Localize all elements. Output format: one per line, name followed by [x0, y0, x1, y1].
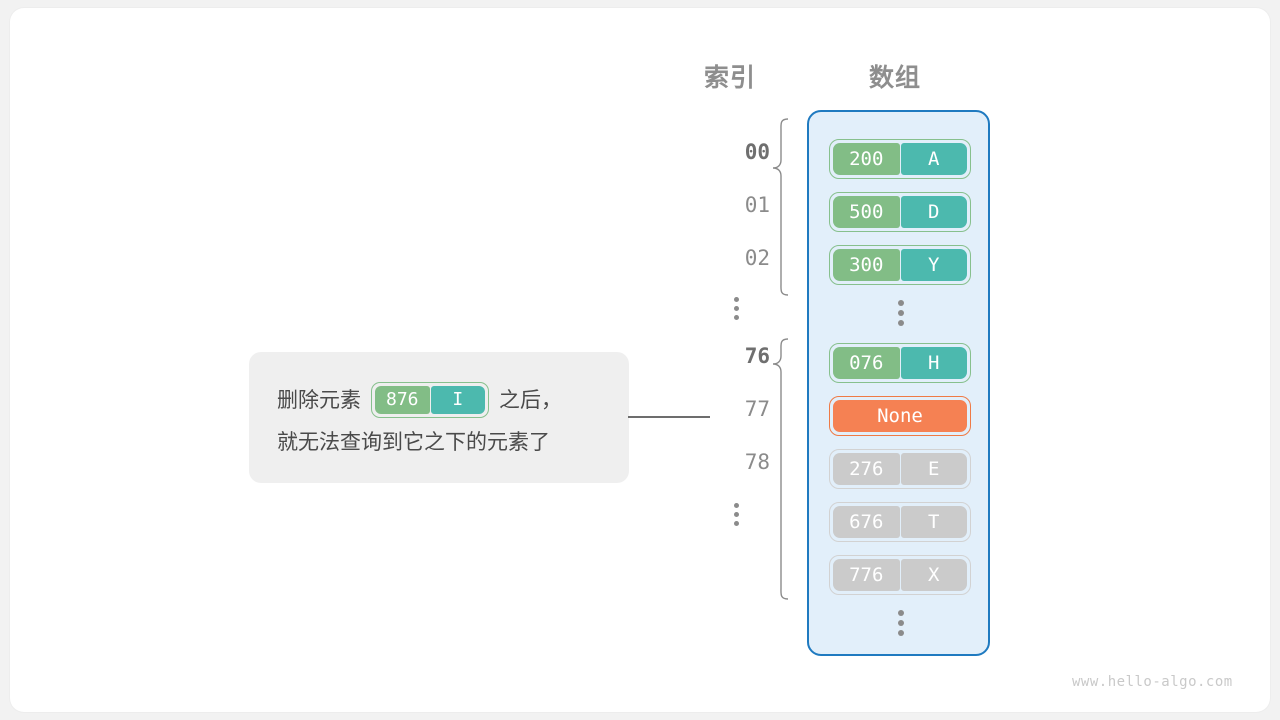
index-column: 000102767778 [660, 100, 770, 660]
pair-key: 676 [833, 506, 900, 538]
index-label-78: 78 [660, 450, 770, 474]
watermark: www.hello-algo.com [1072, 674, 1233, 690]
index-ellipsis-2 [660, 503, 770, 526]
callout-pair-key: 876 [375, 386, 430, 414]
index-brace-1 [764, 118, 790, 296]
callout-inline-pair: 876 I [371, 382, 489, 418]
array-ellipsis [809, 610, 992, 636]
pair-value: E [901, 453, 968, 485]
none-label: None [833, 400, 967, 432]
callout-box: 删除元素 876 I 之后， 就无法查询到它之下的元素了 [249, 352, 629, 483]
index-ellipsis-1 [660, 297, 770, 320]
pair-key: 276 [833, 453, 900, 485]
index-label-00: 00 [660, 140, 770, 164]
array-pair-676: 676T [829, 502, 971, 542]
index-column-header: 索引 [704, 58, 756, 94]
pair-value: X [901, 559, 968, 591]
pair-key: 776 [833, 559, 900, 591]
pair-value: T [901, 506, 968, 538]
callout-text-after: 之后， [499, 390, 562, 411]
array-pair-200: 200A [829, 139, 971, 179]
array-column-header: 数组 [869, 58, 921, 94]
index-label-02: 02 [660, 246, 770, 270]
index-label-01: 01 [660, 193, 770, 217]
array-rows: 200A500D300Y076HNone276E676T776X [809, 112, 988, 654]
index-label-76: 76 [660, 344, 770, 368]
callout-text-before: 删除元素 [277, 390, 361, 411]
pair-value: H [901, 347, 968, 379]
array-pair-500: 500D [829, 192, 971, 232]
array-pair-076: 076H [829, 343, 971, 383]
array-pair-276: 276E [829, 449, 971, 489]
callout-line-2: 就无法查询到它之下的元素了 [277, 432, 601, 453]
pair-value: D [901, 196, 968, 228]
array-container: 200A500D300Y076HNone276E676T776X [807, 110, 990, 656]
callout-pair-value: I [431, 386, 486, 414]
pair-value: Y [901, 249, 968, 281]
array-ellipsis [809, 300, 992, 326]
callout-connector-line [628, 416, 710, 418]
pair-key: 300 [833, 249, 900, 281]
array-none-row: None [829, 396, 971, 436]
array-pair-300: 300Y [829, 245, 971, 285]
pair-key: 200 [833, 143, 900, 175]
callout-line-1: 删除元素 876 I 之后， [277, 382, 601, 418]
array-pair-776: 776X [829, 555, 971, 595]
pair-value: A [901, 143, 968, 175]
white-card [10, 8, 1270, 712]
diagram-canvas: 索引 数组 000102767778 200A500D300Y076HNone2… [0, 0, 1280, 720]
pair-key: 500 [833, 196, 900, 228]
pair-key: 076 [833, 347, 900, 379]
index-brace-2 [764, 338, 790, 600]
